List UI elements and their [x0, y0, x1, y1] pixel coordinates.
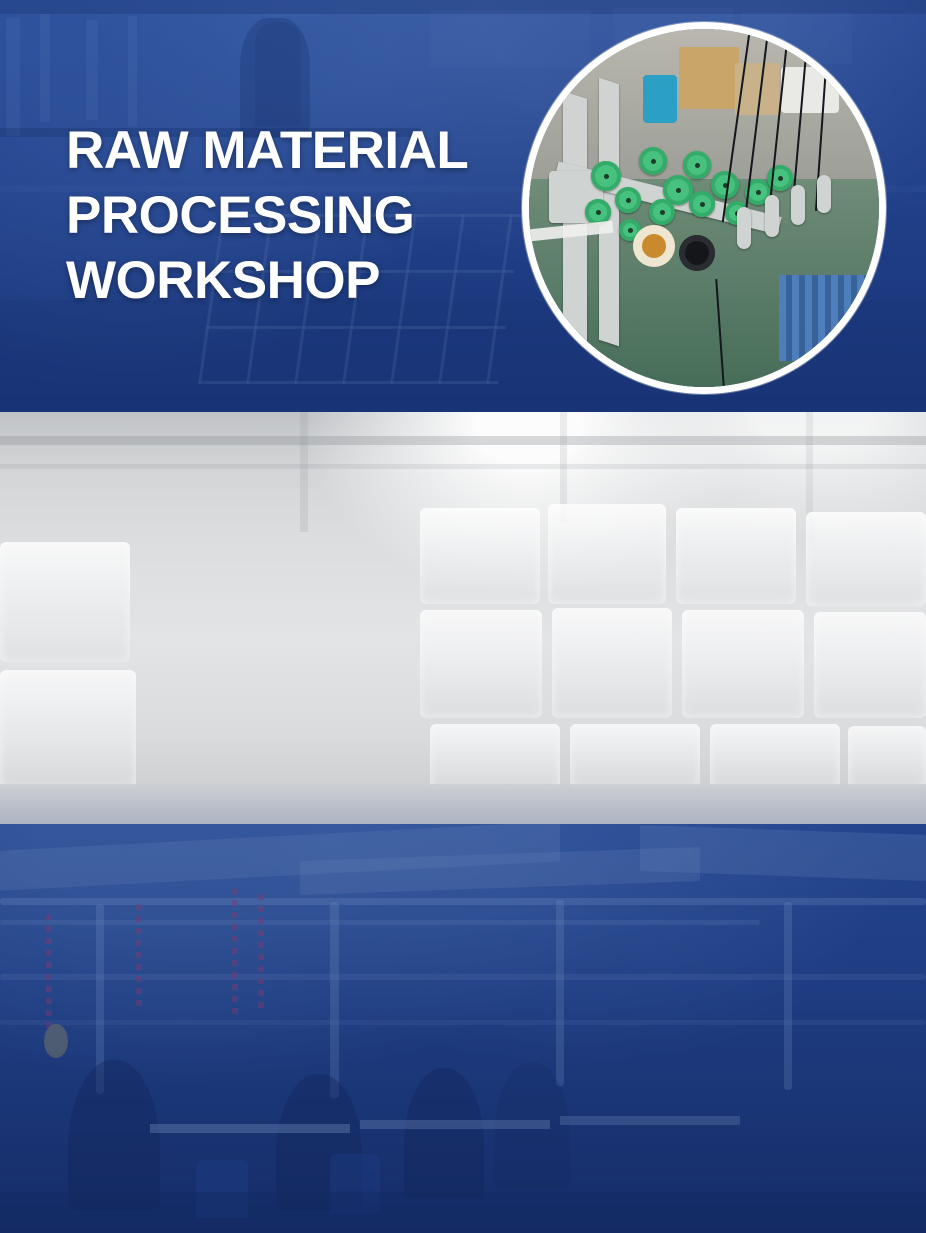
factory-capability-banner: RAW MATERIAL PROCESSING WORKSHOP	[0, 0, 926, 1233]
panel-2-background	[0, 412, 926, 824]
medallion-1-photo	[529, 29, 879, 387]
heading-line: WORKSHOP	[66, 254, 468, 307]
panel-3-blue-tint	[0, 824, 926, 1233]
medallion-raw-material-processing	[522, 22, 886, 394]
panel-2-light-tint	[0, 412, 926, 824]
panel-1-heading: RAW MATERIAL PROCESSING WORKSHOP	[66, 124, 468, 319]
heading-line: RAW MATERIAL	[66, 124, 468, 177]
panel-production-line-1: PRODUCTION LINE 1 为失败找理由，只为成	[0, 824, 926, 1233]
panel-3-background	[0, 824, 926, 1233]
heading-line: PROCESSING	[66, 189, 468, 242]
panel-raw-material-storage: RAW MATERIAL STORAGE WORKSHOP	[0, 412, 926, 824]
panel-raw-material-processing: RAW MATERIAL PROCESSING WORKSHOP	[0, 0, 926, 412]
